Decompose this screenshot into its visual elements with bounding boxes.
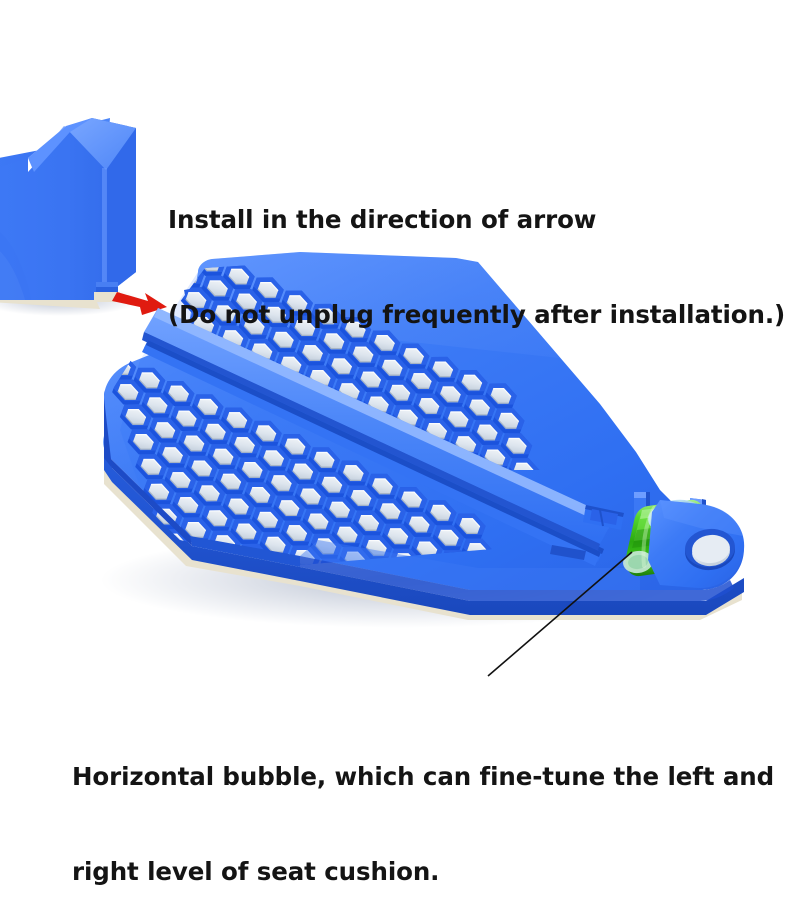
caption-top-line-1: Install in the direction of arrow [168, 204, 785, 236]
product-illustration-svg [0, 0, 800, 800]
mounting-tab [648, 500, 744, 588]
mounting-bracket [0, 118, 136, 309]
caption-bottom-line-2: right level of seat cushion. [72, 856, 774, 888]
bubble-description-caption: Horizontal bubble, which can fine-tune t… [72, 697, 774, 920]
install-direction-caption: Install in the direction of arrow (Do no… [168, 140, 785, 363]
caption-bottom-line-1: Horizontal bubble, which can fine-tune t… [72, 761, 774, 793]
caption-top-line-2: (Do not unplug frequently after installa… [168, 299, 785, 331]
illustration-canvas [0, 0, 800, 800]
